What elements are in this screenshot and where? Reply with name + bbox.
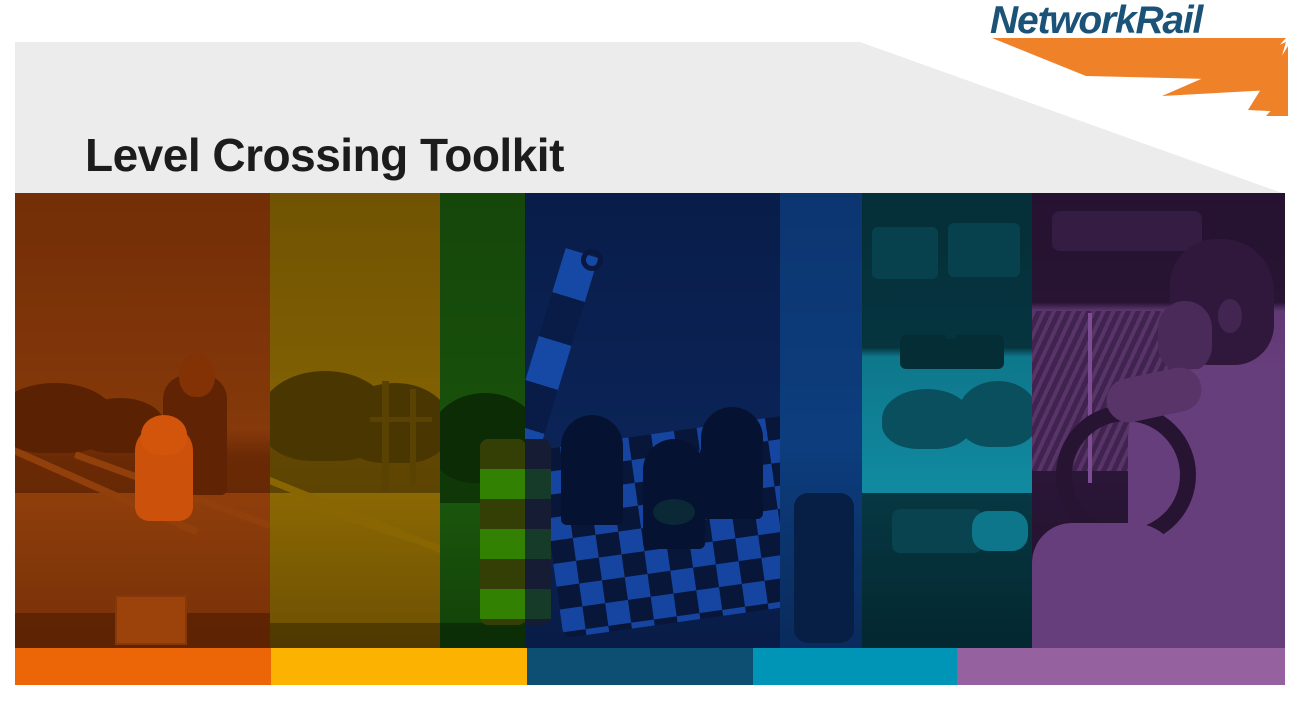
colour-bar-segment-dark-blue	[527, 648, 753, 685]
photo-strip	[15, 193, 1285, 648]
panel-blue-divider-panel	[780, 193, 862, 648]
panel-driver-view-through-windscreen	[862, 193, 1032, 648]
panel-woman-with-dog-at-crossing	[15, 193, 270, 648]
panel-man-driving-car	[1032, 193, 1285, 648]
colour-bar-segment-cyan	[753, 648, 957, 685]
panel-tint-light	[780, 193, 862, 648]
panel-crossing-signal-head	[525, 193, 780, 648]
panel-crossing-footpath-vegetation	[270, 193, 440, 648]
page-title: Level Crossing Toolkit	[85, 128, 564, 182]
slide-root: Level Crossing Toolkit NetworkRail	[0, 0, 1300, 701]
panel-tint-light	[1032, 193, 1285, 648]
panel-tint-light	[862, 193, 1032, 648]
colour-bar-segment-yellow	[271, 648, 527, 685]
colour-bar	[15, 648, 1285, 685]
panel-tint-light	[15, 193, 270, 648]
panel-tint-light	[525, 193, 780, 648]
colour-bar-segment-purple	[957, 648, 1285, 685]
panel-tint-light	[440, 193, 525, 648]
panel-tint-light	[270, 193, 440, 648]
panel-green-divider-panel	[440, 193, 525, 648]
network-rail-logo: NetworkRail	[990, 0, 1290, 115]
converging-rail-tracks-icon	[990, 36, 1290, 116]
colour-bar-segment-orange	[15, 648, 271, 685]
